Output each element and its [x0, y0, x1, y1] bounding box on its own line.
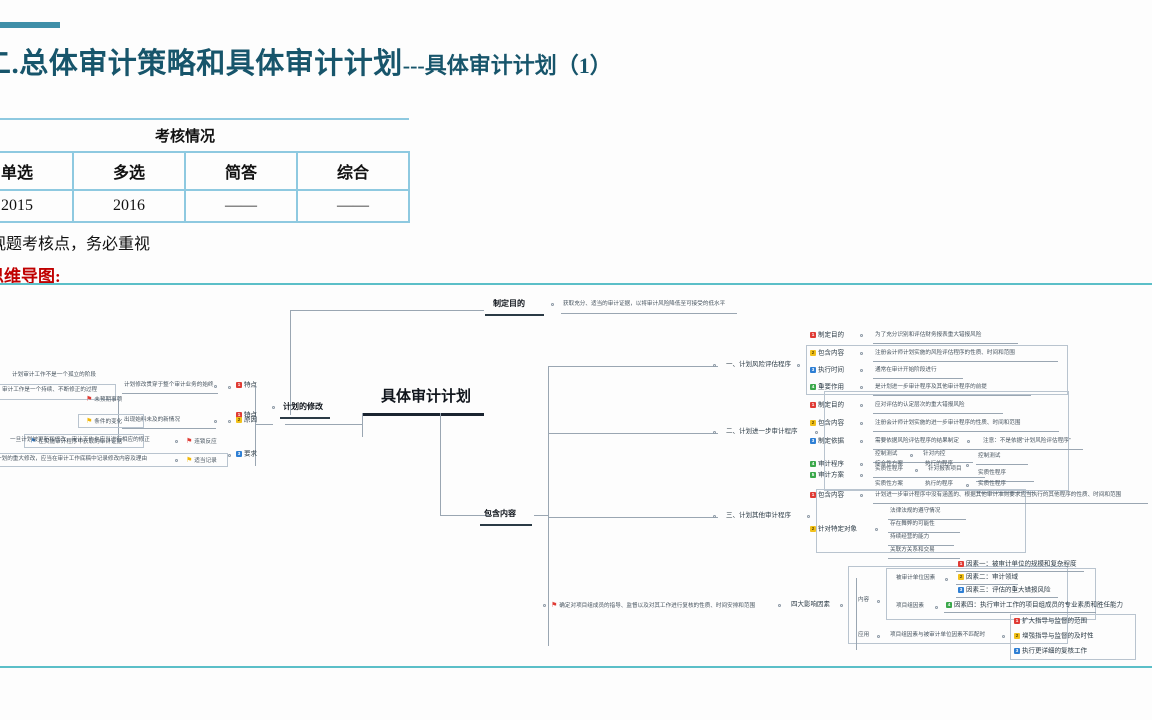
revision-g2-box	[0, 453, 228, 467]
table-header-row: 单选 多选 简答 综合	[0, 152, 409, 190]
badge-2-c1: 2	[958, 574, 964, 580]
section-2-row-4-name: 审计方案	[818, 472, 844, 479]
badge-1-s1r0: 1	[810, 332, 816, 338]
branch-supervision-text: 确定对项目组成员的指导、监督以及对其工作进行复核的性质、时间安排和范围	[559, 603, 755, 609]
branch-contents-label[interactable]: 包含内容	[484, 510, 516, 518]
section-1-row-1-text: 注册会计师计划实施的风险评估程序的性质、时间和范围	[875, 351, 1015, 357]
ul-s2r1	[873, 431, 1059, 432]
dot-s1r1[interactable]	[860, 352, 863, 355]
branch-purpose-label[interactable]: 制定目的	[493, 300, 525, 308]
apply-row-1[interactable]: 2增强指导与监督的及时性	[1014, 633, 1094, 640]
badge-3-a2: 3	[1014, 648, 1020, 654]
badge-5-s2r4: 5	[810, 472, 816, 478]
revision-g1-item-0: ⚑未预期事项	[86, 396, 122, 404]
edge-section-2	[548, 433, 718, 434]
edge-factors-spine	[856, 578, 857, 650]
table-caption-row: 考核情况	[0, 119, 409, 152]
table-header-cell-2: 简答	[185, 152, 297, 190]
section-2-row-2-text: 需要依据风险评估程序的结果制定	[875, 439, 959, 445]
dot-content[interactable]	[877, 600, 880, 603]
branch-purpose-underline	[485, 314, 544, 316]
divider-bottom	[0, 666, 1152, 668]
exam-stats-table-wrap: 考核情况 单选 多选 简答 综合 2015 2016 —— ——	[0, 118, 410, 223]
ul-s3r1l3	[888, 558, 960, 559]
s2r3-sub-0-name: 控制测试	[875, 452, 897, 458]
edge-contents-spine	[548, 366, 549, 646]
dot-audited-unit[interactable]	[945, 578, 948, 581]
dot-s2r0[interactable]	[860, 404, 863, 407]
edge-purpose-horizontal	[290, 310, 484, 311]
collapse-dot-factors[interactable]	[778, 604, 781, 607]
badge-3-s2r2: 3	[810, 438, 816, 444]
ul-c3	[944, 612, 1096, 613]
badge-3-c2: 3	[958, 587, 964, 593]
section-1-title[interactable]: 一、计划风险评估程序	[726, 362, 791, 369]
dot-apply-condition[interactable]	[1002, 635, 1005, 638]
table-header-cell-0: 单选	[0, 152, 73, 190]
page-title: 二.总体审计策略和具体审计计划---具体审计计划（1）	[0, 40, 612, 82]
section-2-row-1-text: 注册会计师计划实施的进一步审计程序的性质、时间和范围	[875, 421, 1020, 427]
collapse-dot-section-1-right[interactable]	[797, 364, 800, 367]
section-3-row-1-name: 针对特定对象	[818, 526, 857, 533]
s3r1-leaf-2: 持续经营的能力	[890, 535, 929, 541]
section-2-row-1[interactable]: 2包含内容	[810, 420, 844, 427]
section-2-row-2-note: 注意：不是依据“计划风险评估程序”	[983, 439, 1071, 445]
badge-2-a1: 2	[1014, 633, 1020, 639]
dot-s1r2[interactable]	[860, 369, 863, 372]
page-title-main: 二.总体审计策略和具体审计计划	[0, 48, 403, 80]
apply-row-2[interactable]: 3执行更详细的复核工作	[1014, 648, 1087, 655]
section-2-row-0-text: 应对评估的认定层次的重大错报风险	[875, 403, 965, 409]
dot-apply[interactable]	[877, 635, 880, 638]
section-2-title[interactable]: 二、计划进一步审计程序	[726, 429, 798, 436]
dot-s2r4-sub0[interactable]	[966, 464, 969, 467]
edge-contents-horizontal	[440, 515, 490, 516]
content-row-1-text: 因素二：审计领域	[966, 574, 1018, 581]
ul-s2r3sub1	[873, 477, 985, 478]
collapse-dot-supervision[interactable]	[543, 604, 546, 607]
section-1-row-0-text: 为了充分识别和评估财务报表重大错报风险	[875, 333, 981, 339]
ul-c0	[956, 571, 1084, 572]
content-row-1[interactable]: 2因素二：审计领域	[958, 574, 1018, 581]
revision-group-0-label-top: 特点	[244, 382, 257, 389]
dot-s2r2-note[interactable]	[967, 440, 970, 443]
table-value-row: 2015 2016 —— ——	[0, 190, 409, 222]
page-title-sub: ---具体审计计划（1）	[403, 53, 612, 78]
ul-s2r2	[873, 449, 1083, 450]
apply-row-0[interactable]: 1扩大指导与监督的范围	[1014, 618, 1087, 625]
dot-s1r0[interactable]	[860, 334, 863, 337]
edge-root-to-contents-v	[440, 413, 441, 515]
exam-stats-table: 考核情况 单选 多选 简答 综合 2015 2016 —— ——	[0, 118, 410, 223]
content-label[interactable]: 内容	[858, 598, 869, 604]
collapse-dot-section-2[interactable]	[713, 431, 716, 434]
revision-g1-item-0-text: 未预期事项	[94, 397, 122, 403]
dot-s2r2[interactable]	[860, 440, 863, 443]
dot-s2r3-sub1[interactable]	[915, 469, 918, 472]
ul-s3r0	[873, 503, 1148, 504]
s2r4-sub-1-text: 执行的程序	[925, 482, 953, 488]
s2r4-sub-0-name: 综合性方案	[875, 462, 903, 468]
apply-label[interactable]: 应用	[858, 633, 869, 639]
revision-g0-item-0: 计划审计工作不是一个孤立的阶段	[12, 373, 96, 379]
exam-note-text: 客观题考核点，务必重视	[0, 230, 150, 254]
edge-revision-horizontal	[285, 424, 363, 425]
s3r1-leaf-3: 关联方关系和交易	[890, 548, 935, 554]
collapse-dot-group-0[interactable]	[228, 386, 231, 389]
section-1-row-1-name: 包含内容	[818, 350, 844, 357]
revision-g2-item-2-text: 连锁反应	[194, 439, 216, 445]
branch-revision-underline	[280, 417, 330, 419]
edge-section-3	[548, 517, 718, 518]
collapse-dot-group-1[interactable]	[228, 420, 231, 423]
revision-g0-item-2: 计划修改贯穿于整个审计业务的始终	[124, 383, 214, 389]
ul-c2	[956, 597, 1058, 598]
dot-s2r3-sub0[interactable]	[910, 454, 913, 457]
audited-unit-factor-label[interactable]: 被审计单位因素	[896, 576, 935, 582]
badge-2: 2	[236, 417, 242, 423]
ul-s2r0	[873, 413, 1003, 414]
badge-2-s3r1: 2	[810, 526, 816, 532]
table-value-cell-2: ——	[185, 190, 297, 222]
dot-s2r4[interactable]	[860, 474, 863, 477]
apply-row-1-text: 增强指导与监督的及时性	[1022, 633, 1094, 640]
section-3-row-0[interactable]: 1包含内容	[810, 492, 844, 499]
dot-s2r3[interactable]	[860, 463, 863, 466]
table-value-cell-3: ——	[297, 190, 409, 222]
dot-s1r3[interactable]	[860, 386, 863, 389]
dot-s3r1[interactable]	[875, 528, 878, 531]
revision-g1-box-a	[78, 414, 144, 428]
collapse-dot-section-1[interactable]	[713, 364, 716, 367]
edge-section-1	[548, 366, 718, 367]
branch-contents-underline	[480, 524, 532, 526]
apply-row-0-text: 扩大指导与监督的范围	[1022, 618, 1087, 625]
s2r3-sub-1-name: 实质性程序	[875, 467, 903, 473]
table-caption: 考核情况	[0, 119, 409, 152]
badge-1-s2r0: 1	[810, 402, 816, 408]
section-1-row-0-name: 制定目的	[818, 332, 844, 339]
section-1-row-0[interactable]: 1制定目的	[810, 332, 844, 339]
collapse-dot-section-3-right[interactable]	[807, 515, 810, 518]
ul-s3r1l0	[888, 519, 966, 520]
dot-s2r1[interactable]	[860, 422, 863, 425]
revision-group-2-name[interactable]: 3要求	[236, 451, 257, 458]
content-row-3[interactable]: 4因素四：执行审计工作的项目组成员的专业素质和胜任能力	[946, 602, 1123, 609]
content-row-3-text: 因素四：执行审计工作的项目组成员的专业素质和胜任能力	[954, 602, 1123, 609]
badge-1-a0: 1	[1014, 618, 1020, 624]
revision-g2-item-0: 一旦计划被更新和修改，审计工作也应当进行相应的修正	[10, 438, 150, 444]
section-2-row-0[interactable]: 1制定目的	[810, 402, 844, 409]
root-underline	[362, 413, 484, 416]
collapse-dot-purpose[interactable]	[551, 303, 554, 306]
badge-1-top: 1	[236, 382, 242, 388]
ul-s1r2	[873, 378, 963, 379]
content-row-2[interactable]: 3因素三：评估的重大错报风险	[958, 587, 1051, 594]
section-2-row-3[interactable]: 4审计程序	[810, 461, 844, 468]
ul-c1	[956, 584, 1018, 585]
badge-1-c0: 1	[958, 561, 964, 567]
ul-s3r1l1	[888, 532, 960, 533]
edge-revision-into-spine	[255, 424, 273, 425]
ul-s1r1	[873, 361, 1058, 362]
branch-purpose-detail: 获取充分、适当的审计证据，以将审计风险降低至可接受的低水平	[563, 302, 725, 308]
section-3-row-0-name: 包含内容	[818, 492, 844, 499]
section-3-row-0-text: 计划进一步审计程序中没有涵盖的、根据其他审计准则要求应当执行的其他程序的性质、时…	[875, 493, 1121, 499]
s2r4-sub-0-leaf-0: 控制测试	[978, 454, 1000, 460]
revision-group-1-label: 原因	[244, 417, 257, 424]
badge-4-c3: 4	[946, 602, 952, 608]
mindmap-canvas: 具体审计计划 制定目的 获取充分、适当的审计证据，以将审计风险降低至可接受的低水…	[0, 286, 1152, 664]
ul-s1r0	[873, 343, 1018, 344]
branch-supervision-label: ⚑确定对项目组成员的指导、监督以及对其工作进行复核的性质、时间安排和范围	[551, 602, 755, 610]
collapse-dot-revision[interactable]	[272, 406, 275, 409]
badge-2-s2r1: 2	[810, 420, 816, 426]
s2r4-sub-1-name: 实质性方案	[875, 482, 903, 488]
flag-red-icon: ⚑	[86, 396, 92, 403]
collapse-dot-g0-item2[interactable]	[214, 385, 217, 388]
section-2-row-2[interactable]: 3制定依据	[810, 438, 844, 445]
s2r3-sub-0-text: 针对内控	[923, 452, 945, 458]
top-accent-rule	[0, 22, 60, 28]
dot-s3r0[interactable]	[860, 494, 863, 497]
revision-group-1-name[interactable]: 2原因	[236, 417, 257, 424]
table-value-cell-1: 2016	[73, 190, 185, 222]
dot-s2r4-sub1[interactable]	[966, 484, 969, 487]
s2r4-sub-1-leaf-0: 实质性程序	[978, 482, 1006, 488]
section-1-row-2-name: 执行时间	[818, 367, 844, 374]
badge-2-s1r1: 2	[810, 350, 816, 356]
section-1-row-1[interactable]: 2包含内容	[810, 350, 844, 357]
s2r4-sub-0-leaf-1: 实质性程序	[978, 471, 1006, 477]
collapse-dot-factors-right[interactable]	[840, 604, 843, 607]
collapse-dot-section-2-right[interactable]	[815, 431, 818, 434]
section-2-row-0-name: 制定目的	[818, 402, 844, 409]
badge-3-s1r2: 3	[810, 367, 816, 373]
collapse-dot-section-3[interactable]	[713, 515, 716, 518]
collapse-dot-g2-item2[interactable]	[175, 440, 178, 443]
revision-group-2-label: 要求	[244, 451, 257, 458]
section-2-row-2-name: 制定依据	[818, 438, 844, 445]
factors-label[interactable]: 四大影响因素	[791, 602, 830, 609]
s2r4-sub-0-text: 执行的程序	[925, 462, 953, 468]
team-factor-label[interactable]: 项目组因素	[896, 604, 924, 610]
apply-row-2-text: 执行更详细的复核工作	[1022, 648, 1087, 655]
section-1-row-2-text: 通常在审计开始阶段进行	[875, 368, 937, 374]
badge-4-s2r3: 4	[810, 461, 816, 467]
edge-root-to-revision-v	[362, 413, 363, 437]
branch-revision-label[interactable]: 计划的修改	[283, 403, 323, 411]
badge-3: 3	[236, 451, 242, 457]
section-2-row-1-name: 包含内容	[818, 420, 844, 427]
ul-s2r4s0l0	[976, 464, 1028, 465]
dot-team-factor[interactable]	[935, 606, 938, 609]
edge-contents-in	[534, 515, 548, 516]
branch-purpose-detail-underline	[561, 313, 737, 314]
content-row-0[interactable]: 1因素一：被审计单位的规模和复杂程度	[958, 561, 1077, 568]
flag-red-icon-2: ⚑	[186, 438, 192, 445]
section-1-row-3-name: 重要作用	[818, 384, 844, 391]
revision-g2-item-2: ⚑连锁反应	[186, 438, 217, 446]
revision-g1-item-3-ul	[122, 428, 216, 429]
section-2-row-3-name: 审计程序	[818, 461, 844, 468]
badge-1-s3r0: 1	[810, 492, 816, 498]
edge-root-to-purpose	[290, 310, 291, 415]
s2r3-sub-1-text: 针对报表项目	[928, 467, 962, 473]
apply-condition: 项目组因素与被审计单位因素不匹配时	[890, 633, 985, 639]
collapse-dot-group-2[interactable]	[228, 454, 231, 457]
section-3-title[interactable]: 三、计划其他审计程序	[726, 513, 791, 520]
s3r1-leaf-0: 法律法规的遵守情况	[890, 509, 940, 515]
divider-top	[0, 283, 1152, 285]
revision-group-0-name-top[interactable]: 1特点	[236, 382, 257, 389]
flag-red-icon-3: ⚑	[551, 602, 557, 609]
content-row-2-text: 因素三：评估的重大错报风险	[966, 587, 1051, 594]
table-header-cell-1: 多选	[73, 152, 185, 190]
mindmap-root-node[interactable]: 具体审计计划	[381, 390, 471, 405]
collapse-dot-g1-item3[interactable]	[214, 420, 217, 423]
table-header-cell-3: 综合	[297, 152, 409, 190]
content-row-0-text: 因素一：被审计单位的规模和复杂程度	[966, 561, 1077, 568]
badge-4-s1r3: 4	[810, 384, 816, 390]
revision-g0-item-2-ul	[122, 393, 218, 394]
table-value-cell-0: 2015	[0, 190, 73, 222]
section-1-row-3-text: 是计划进一步审计程序及其他审计程序的前提	[875, 385, 987, 391]
section-1-row-2[interactable]: 3执行时间	[810, 367, 844, 374]
section-2-row-4[interactable]: 5审计方案	[810, 472, 844, 479]
ul-s3r1l2	[888, 545, 954, 546]
section-3-row-1[interactable]: 2针对特定对象	[810, 526, 857, 533]
s3r1-leaf-1: 存在舞弊的可能性	[890, 522, 935, 528]
